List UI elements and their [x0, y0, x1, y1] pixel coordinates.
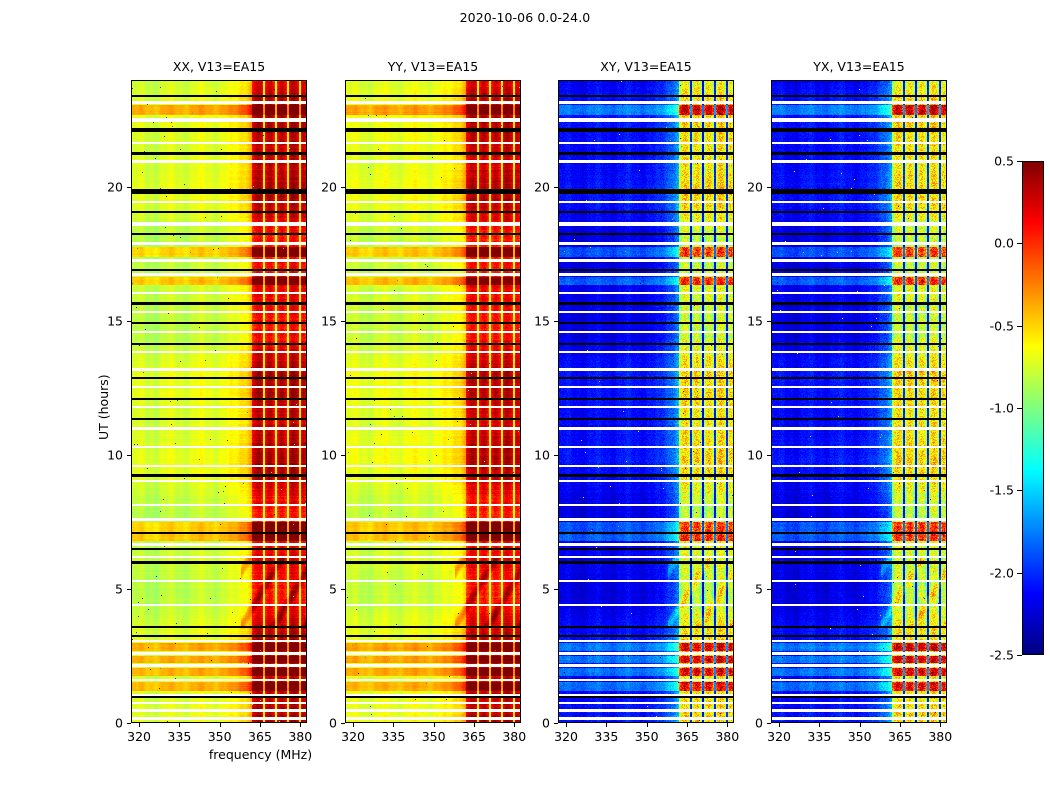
panel-xy-image [558, 80, 734, 723]
x-axis-label: frequency (MHz) [0, 747, 521, 762]
panel-yx-ytick [767, 455, 771, 456]
panel-yx-xticklabel: 350 [848, 729, 872, 744]
panel-yy-xtick [514, 723, 515, 727]
colorbar-tick [1017, 573, 1022, 574]
panel-yy-yticklabel: 15 [307, 314, 337, 329]
panel-yy-xticklabel: 350 [422, 729, 446, 744]
panel-yy-xtick [474, 723, 475, 727]
panel-yy-ytick [341, 321, 345, 322]
panel-yy-ytick [341, 455, 345, 456]
panel-yx-xtick [900, 723, 901, 727]
panel-yy-title: YY, V13=EA15 [345, 59, 521, 74]
panel-yx-yticklabel: 10 [733, 448, 763, 463]
panel-yy-yticklabel: 20 [307, 180, 337, 195]
panel-xx[interactable]: XX, V13=EA15 [131, 80, 307, 723]
panel-xy-ytick [554, 187, 558, 188]
panel-xx-yticklabel: 15 [93, 314, 123, 329]
colorbar-ticklabel: 0.5 [980, 154, 1014, 169]
panel-xx-yticklabel: 0 [93, 716, 123, 731]
colorbar-tick [1017, 490, 1022, 491]
panel-yy-yticklabel: 0 [307, 716, 337, 731]
panel-yy-image [345, 80, 521, 723]
panel-yx-xticklabel: 380 [928, 729, 952, 744]
panel-xy-ytick [554, 723, 558, 724]
panel-xx-xtick [179, 723, 180, 727]
panel-xx-image [131, 80, 307, 723]
panel-xy-title: XY, V13=EA15 [558, 59, 734, 74]
panel-xx-yticklabel: 20 [93, 180, 123, 195]
panel-xx-xticklabel: 350 [208, 729, 232, 744]
panel-xx-xtick [220, 723, 221, 727]
panel-xx-title: XX, V13=EA15 [131, 59, 307, 74]
colorbar-tick [1017, 326, 1022, 327]
panel-xx-ytick [127, 723, 131, 724]
panel-xx-xtick [300, 723, 301, 727]
panel-xy-yticklabel: 20 [520, 180, 550, 195]
panel-yy-xticklabel: 380 [502, 729, 526, 744]
colorbar-gradient [1022, 161, 1044, 655]
panel-xy-xticklabel: 320 [554, 729, 578, 744]
panel-xy-xticklabel: 335 [594, 729, 618, 744]
panel-yx-xtick [779, 723, 780, 727]
panel-xy-xticklabel: 350 [635, 729, 659, 744]
colorbar-tick [1017, 408, 1022, 409]
panel-yx-xtick [819, 723, 820, 727]
panel-yy-ytick [341, 723, 345, 724]
panel-xx-ytick [127, 321, 131, 322]
panel-yx-ytick [767, 321, 771, 322]
panel-xy-yticklabel: 10 [520, 448, 550, 463]
panel-xy-xticklabel: 365 [675, 729, 699, 744]
colorbar-ticklabel: -1.5 [980, 483, 1014, 498]
panel-yy-yticklabel: 10 [307, 448, 337, 463]
panel-yy-xticklabel: 320 [341, 729, 365, 744]
panel-yx-xtick [860, 723, 861, 727]
colorbar-tick [1017, 243, 1022, 244]
panel-yx-image [771, 80, 947, 723]
colorbar-ticklabel: 0.0 [980, 236, 1014, 251]
panel-xy-xtick [606, 723, 607, 727]
panel-xy-yticklabel: 15 [520, 314, 550, 329]
panel-yx-yticklabel: 15 [733, 314, 763, 329]
panel-xx-xtick [260, 723, 261, 727]
colorbar-ticklabel: -2.5 [980, 648, 1014, 663]
figure-canvas: 2020-10-06 0.0-24.0 XX, V13=EA15YY, V13=… [0, 0, 1050, 800]
panel-xx-ytick [127, 589, 131, 590]
panel-xy-xtick [687, 723, 688, 727]
panel-yx[interactable]: YX, V13=EA15 [771, 80, 947, 723]
panel-yx-title: YX, V13=EA15 [771, 59, 947, 74]
panel-xx-yticklabel: 5 [93, 582, 123, 597]
panel-xy-ytick [554, 321, 558, 322]
panel-yy-xtick [393, 723, 394, 727]
panel-yy-xtick [434, 723, 435, 727]
figure-suptitle: 2020-10-06 0.0-24.0 [0, 10, 1050, 25]
colorbar[interactable] [1022, 161, 1044, 655]
panel-xx-ytick [127, 455, 131, 456]
panel-yy-yticklabel: 5 [307, 582, 337, 597]
panel-yx-ytick [767, 589, 771, 590]
colorbar-tick [1017, 161, 1022, 162]
y-axis-label: UT (hours) [96, 374, 111, 440]
panel-yx-yticklabel: 0 [733, 716, 763, 731]
panel-xx-xticklabel: 365 [248, 729, 272, 744]
panel-xy-xtick [566, 723, 567, 727]
panel-xx-xticklabel: 335 [167, 729, 191, 744]
colorbar-ticklabel: -0.5 [980, 318, 1014, 333]
panel-yy-ytick [341, 187, 345, 188]
colorbar-ticklabel: -1.0 [980, 401, 1014, 416]
panel-yx-xtick [940, 723, 941, 727]
panel-xx-yticklabel: 10 [93, 448, 123, 463]
panel-yx-yticklabel: 5 [733, 582, 763, 597]
panel-xy-ytick [554, 589, 558, 590]
panel-xx-xticklabel: 320 [127, 729, 151, 744]
panel-xy-xtick [647, 723, 648, 727]
panel-xy-xtick [727, 723, 728, 727]
panel-xy-yticklabel: 5 [520, 582, 550, 597]
panel-yy-xtick [353, 723, 354, 727]
panel-xx-xtick [139, 723, 140, 727]
panel-xy[interactable]: XY, V13=EA15 [558, 80, 734, 723]
panel-yy[interactable]: YY, V13=EA15 [345, 80, 521, 723]
panel-xy-xticklabel: 380 [715, 729, 739, 744]
panel-yy-ytick [341, 589, 345, 590]
panel-xy-yticklabel: 0 [520, 716, 550, 731]
panel-yy-xticklabel: 335 [381, 729, 405, 744]
panel-yx-ytick [767, 723, 771, 724]
colorbar-tick [1017, 655, 1022, 656]
panel-xx-xticklabel: 380 [288, 729, 312, 744]
panel-yy-xticklabel: 365 [462, 729, 486, 744]
panel-yx-xticklabel: 335 [807, 729, 831, 744]
panel-xx-ytick [127, 187, 131, 188]
panel-xy-ytick [554, 455, 558, 456]
panel-yx-xticklabel: 365 [888, 729, 912, 744]
panel-yx-yticklabel: 20 [733, 180, 763, 195]
colorbar-ticklabel: -2.0 [980, 565, 1014, 580]
panel-yx-ytick [767, 187, 771, 188]
panel-yx-xticklabel: 320 [767, 729, 791, 744]
